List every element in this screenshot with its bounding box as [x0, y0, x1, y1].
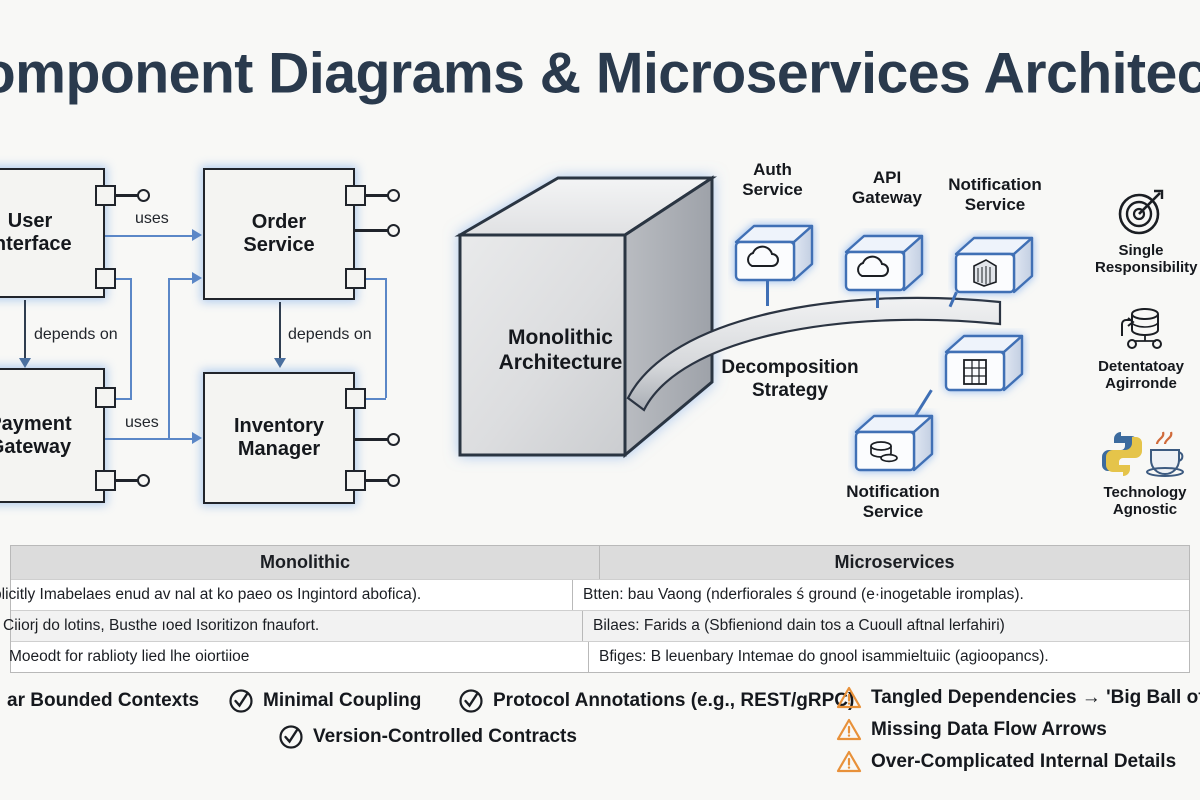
lollipop-order-top — [387, 189, 400, 202]
wire-payment-top-in — [116, 398, 132, 400]
port-payment-bottom — [95, 470, 116, 491]
warning-item-over-complicated[interactable]: Over-Complicated Internal Details — [836, 749, 1176, 775]
comparison-table: Monolithic Microservices plicitly Imabel… — [10, 545, 1190, 673]
check-circle-icon — [458, 688, 484, 714]
port-payment-top — [95, 387, 116, 408]
lollipop-stem-order-top — [366, 194, 388, 197]
checklist-item-bounded-contexts[interactable]: ar Bounded Contexts — [0, 688, 199, 714]
arrowhead-payment-inventory — [192, 432, 202, 444]
cube-shape-notification-top — [948, 230, 1040, 304]
diagram-canvas: Component Diagrams & Microservices Archi… — [0, 0, 1200, 800]
table-row: Ciiorj do lotins, Busthe ıoed Isoritizon… — [11, 610, 1189, 641]
wire-order-right-down — [385, 278, 387, 398]
principle-label-independent-deploy: InD — [1186, 358, 1200, 393]
principle-data-autonomy[interactable]: DetentatoayAgirronde — [1095, 300, 1187, 393]
warning-triangle-icon — [836, 749, 862, 775]
table-cell-monolithic-3: Moeodt for rablioty lied lhe oiortiioe — [0, 642, 589, 672]
microservice-label-api-gateway: APIGateway — [832, 168, 942, 207]
port-order-bottom — [345, 268, 366, 289]
lollipop-ui-top — [137, 189, 150, 202]
checklist-item-protocol-annotations[interactable]: Protocol Annotations (e.g., REST/gRPC) — [458, 688, 854, 714]
port-order-top — [345, 185, 366, 206]
page-title: Component Diagrams & Microservices Archi… — [0, 41, 1200, 107]
wire-ui-bottom-in — [116, 278, 132, 280]
component-label-inventory-manager: InventoryManager — [234, 415, 324, 461]
lollipop-inventory-mid — [387, 433, 400, 446]
database-stack-icon — [1114, 300, 1168, 354]
arrowhead-center-order — [192, 272, 202, 284]
checklist-label-protocol-annotations: Protocol Annotations (e.g., REST/gRPC) — [493, 690, 854, 712]
target-icon — [1115, 186, 1167, 238]
checklist-label-bounded-contexts: ar Bounded Contexts — [7, 690, 199, 712]
port-ui-bottom — [95, 268, 116, 289]
python-java-icon — [1095, 428, 1199, 480]
lollipop-stem-inventory-mid — [355, 438, 388, 441]
principle-independent-deploy[interactable]: InD — [1186, 300, 1200, 393]
table-cell-monolithic-2: Ciiorj do lotins, Busthe ıoed Isoritizon… — [0, 611, 583, 641]
edge-order-inventory — [279, 302, 281, 366]
edge-label-payment-inventory: uses — [125, 414, 159, 432]
check-circle-icon — [278, 724, 304, 750]
microservice-cube-auth-service[interactable] — [728, 218, 806, 280]
cube-shape-notification-bottom — [848, 408, 940, 482]
port-inventory-bottom — [345, 470, 366, 491]
connector-auth-to-arc — [766, 280, 769, 306]
component-box-user-interface[interactable]: UserInterface — [0, 168, 105, 298]
port-ui-top — [95, 185, 116, 206]
check-circle-icon — [228, 688, 254, 714]
table-row: Moeodt for rablioty lied lhe oiortiioe B… — [11, 641, 1189, 672]
warning-item-missing-data-flow[interactable]: Missing Data Flow Arrows — [836, 717, 1107, 743]
lollipop-stem-payment-bottom — [116, 479, 138, 482]
cube-shape-center — [938, 328, 1030, 402]
port-inventory-top — [345, 388, 366, 409]
microservice-cube-notification-bottom[interactable] — [848, 408, 926, 470]
edge-payment-inventory — [105, 438, 197, 440]
warning-label-missing-data-flow: Missing Data Flow Arrows — [871, 719, 1107, 741]
table-cell-microservices-3: Bfiges: B leuenbary Intemae do gnool isa… — [589, 642, 1179, 672]
table-row: plicitly Imabelaes enud av nal at ko pae… — [11, 579, 1189, 610]
arrowhead-order-inventory — [274, 358, 286, 368]
warning-label-over-complicated: Over-Complicated Internal Details — [871, 751, 1176, 773]
component-diagram: UserInterface OrderService PaymentGatewa… — [0, 150, 440, 540]
cube-shape-api-gateway — [838, 228, 930, 302]
arrowhead-ui-order — [192, 229, 202, 241]
table-header-microservices: Microservices — [600, 546, 1189, 579]
table-header-row: Monolithic Microservices — [11, 546, 1189, 579]
edge-ui-payment — [24, 300, 26, 365]
warning-item-tangled-dependencies[interactable]: Tangled Dependencies → 'Big Ball of Mu — [836, 685, 1200, 711]
principle-label-single-responsibility: SingleResponsibility — [1095, 242, 1187, 277]
connector-api-to-arc — [876, 290, 879, 308]
principle-decentralized-data[interactable]: De — [1186, 186, 1200, 259]
lollipop-order-mid — [387, 224, 400, 237]
checklist-label-minimal-coupling: Minimal Coupling — [263, 690, 421, 712]
checklist-item-version-controlled-contracts[interactable]: Version-Controlled Contracts — [278, 724, 577, 750]
principle-technology-agnostic[interactable]: TechnologyAgnostic — [1095, 428, 1195, 519]
wire-center-up — [168, 278, 170, 440]
lollipop-stem-inventory-bottom — [366, 479, 388, 482]
microservice-label-auth-service: AuthService — [715, 160, 830, 199]
warning-triangle-icon — [836, 717, 862, 743]
principle-label-technology-agnostic: TechnologyAgnostic — [1095, 484, 1195, 519]
table-cell-monolithic-1: plicitly Imabelaes enud av nal at ko pae… — [0, 580, 573, 610]
table-cell-microservices-1: Btten: bau Vaong (nderfiorales ś ground … — [573, 580, 1163, 610]
bottom-summary: ar Bounded Contexts Minimal Coupling Pro… — [0, 688, 1200, 788]
warning-label-tangled-dependencies: Tangled Dependencies → 'Big Ball of Mu — [871, 687, 1200, 709]
edge-ui-order — [105, 235, 197, 237]
cube-shape-auth — [728, 218, 820, 292]
microservice-cube-api-gateway[interactable] — [838, 228, 916, 290]
table-cell-microservices-2: Bilaes: Farids a (Sbfieniond dain tos a … — [583, 611, 1173, 641]
lollipop-stem-order-mid — [355, 229, 388, 232]
component-box-order-service[interactable]: OrderService — [203, 168, 355, 300]
wire-inventory-right-in — [366, 398, 386, 400]
principle-label-decentralized-data: De — [1186, 242, 1200, 259]
warning-triangle-icon — [836, 685, 862, 711]
lollipop-stem-ui-top — [116, 194, 138, 197]
microservice-cube-center[interactable] — [938, 328, 1016, 390]
microservice-label-notification-service-top: NotificationService — [930, 175, 1060, 214]
table-body: plicitly Imabelaes enud av nal at ko pae… — [11, 579, 1189, 672]
principle-single-responsibility[interactable]: SingleResponsibility — [1095, 186, 1187, 277]
lollipop-inventory-bottom — [387, 474, 400, 487]
edge-label-ui-order: uses — [135, 210, 169, 228]
component-label-order-service: OrderService — [243, 211, 314, 257]
decomposition-strategy-label: DecompositionStrategy — [700, 357, 880, 403]
component-label-user-interface: UserInterface — [0, 210, 72, 256]
table-header-monolithic: Monolithic — [11, 546, 600, 579]
edge-label-order-inventory: depends on — [288, 326, 372, 344]
lollipop-payment-bottom — [137, 474, 150, 487]
microservice-label-notification-service-bottom: NotificationService — [828, 482, 958, 521]
checklist-item-minimal-coupling[interactable]: Minimal Coupling — [228, 688, 421, 714]
microservice-cube-notification-top[interactable] — [948, 230, 1026, 292]
component-label-payment-gateway: PaymentGateway — [0, 413, 72, 459]
edge-label-ui-payment: depends on — [34, 326, 118, 344]
wire-order-right-in — [366, 278, 386, 280]
component-box-payment-gateway[interactable]: PaymentGateway — [0, 368, 105, 503]
wire-ui-bottom-down — [130, 278, 132, 400]
component-box-inventory-manager[interactable]: InventoryManager — [203, 372, 355, 504]
arrowhead-ui-payment — [19, 358, 31, 368]
checklist-label-version-controlled-contracts: Version-Controlled Contracts — [313, 726, 577, 748]
principle-label-data-autonomy: DetentatoayAgirronde — [1095, 358, 1187, 393]
